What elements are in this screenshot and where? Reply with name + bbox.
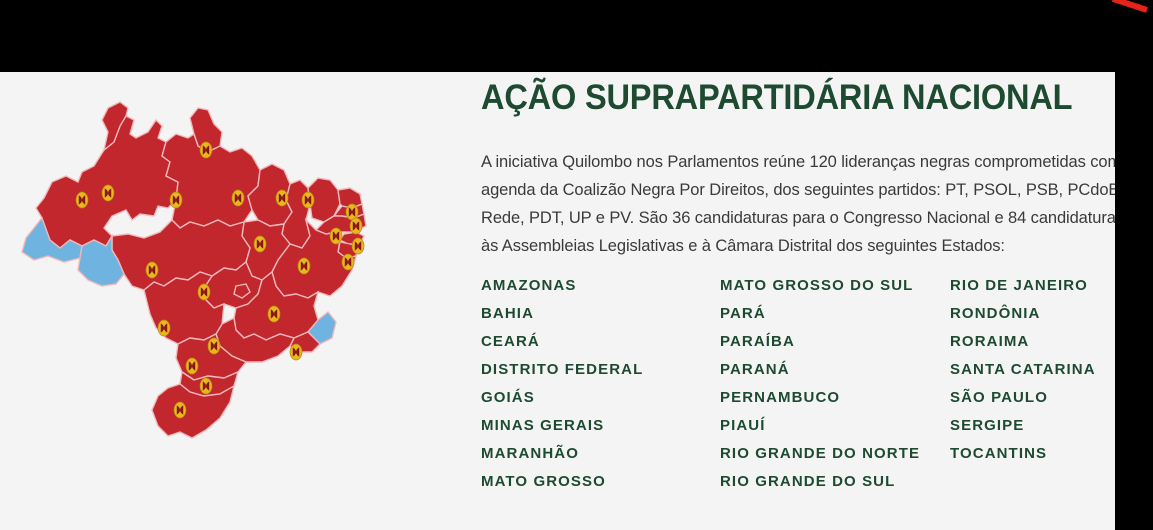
quilombo-marker-icon[interactable] [200, 378, 212, 394]
brazil-map-container[interactable] [0, 72, 470, 530]
intro-paragraph: A iniciativa Quilombo nos Parlamentos re… [481, 148, 1115, 260]
quilombo-marker-icon[interactable] [298, 258, 310, 274]
state-label: MINAS GERAIS [481, 412, 720, 440]
quilombo-marker-icon[interactable] [232, 190, 244, 206]
quilombo-marker-icon[interactable] [198, 284, 210, 300]
brazil-map-svg[interactable] [8, 90, 408, 510]
states-column-3: RIO DE JANEIRO RONDÔNIA RORAIMA SANTA CA… [950, 272, 1115, 496]
states-column-2: MATO GROSSO DO SUL PARÁ PARAÍBA PARANÁ P… [720, 272, 950, 496]
states-list: AMAZONAS BAHIA CEARÁ DISTRITO FEDERAL GO… [481, 272, 1115, 496]
quilombo-marker-icon[interactable] [276, 190, 288, 206]
content-panel: AÇÃO SUPRAPARTIDÁRIA NACIONAL A iniciati… [0, 72, 1115, 530]
quilombo-marker-icon[interactable] [170, 192, 182, 208]
state-label: MATO GROSSO [481, 468, 720, 496]
state-label: AMAZONAS [481, 272, 720, 300]
quilombo-marker-icon[interactable] [76, 192, 88, 208]
quilombo-marker-icon[interactable] [302, 192, 314, 208]
state-label: MARANHÃO [481, 440, 720, 468]
state-label: GOIÁS [481, 384, 720, 412]
state-label: MATO GROSSO DO SUL [720, 272, 950, 300]
state-label: RIO GRANDE DO NORTE [720, 440, 950, 468]
state-amazonas[interactable] [34, 116, 178, 248]
state-label: SANTA CATARINA [950, 356, 1115, 384]
map-states-group [22, 102, 366, 438]
screenshot-root: AÇÃO SUPRAPARTIDÁRIA NACIONAL A iniciati… [0, 0, 1153, 530]
state-label: RIO GRANDE DO SUL [720, 468, 950, 496]
quilombo-marker-icon[interactable] [290, 344, 302, 360]
quilombo-marker-icon[interactable] [208, 338, 220, 354]
state-label: RONDÔNIA [950, 300, 1115, 328]
quilombo-marker-icon[interactable] [254, 236, 266, 252]
quilombo-marker-icon[interactable] [350, 218, 362, 234]
quilombo-marker-icon[interactable] [158, 320, 170, 336]
state-label: PERNAMBUCO [720, 384, 950, 412]
quilombo-marker-icon[interactable] [342, 254, 354, 270]
state-label: PARANÁ [720, 356, 950, 384]
state-label: DISTRITO FEDERAL [481, 356, 720, 384]
state-label: RIO DE JANEIRO [950, 272, 1115, 300]
quilombo-marker-icon[interactable] [268, 306, 280, 322]
quilombo-marker-icon[interactable] [200, 142, 212, 158]
state-label: RORAIMA [950, 328, 1115, 356]
state-label: SÃO PAULO [950, 384, 1115, 412]
quilombo-marker-icon[interactable] [174, 402, 186, 418]
quilombo-marker-icon[interactable] [102, 185, 114, 201]
red-diagonal-accent-icon [1112, 0, 1148, 13]
page-title: AÇÃO SUPRAPARTIDÁRIA NACIONAL [481, 80, 1072, 117]
quilombo-marker-icon[interactable] [146, 262, 158, 278]
state-label: TOCANTINS [950, 440, 1115, 468]
state-label: PARAÍBA [720, 328, 950, 356]
quilombo-marker-icon[interactable] [352, 238, 364, 254]
state-label: CEARÁ [481, 328, 720, 356]
state-label: BAHIA [481, 300, 720, 328]
state-label: PARÁ [720, 300, 950, 328]
quilombo-marker-icon[interactable] [346, 204, 358, 220]
quilombo-marker-icon[interactable] [186, 358, 198, 374]
state-label: SERGIPE [950, 412, 1115, 440]
states-column-1: AMAZONAS BAHIA CEARÁ DISTRITO FEDERAL GO… [481, 272, 720, 496]
text-content-column: AÇÃO SUPRAPARTIDÁRIA NACIONAL A iniciati… [481, 72, 1115, 530]
quilombo-marker-icon[interactable] [330, 228, 342, 244]
state-label: PIAUÍ [720, 412, 950, 440]
